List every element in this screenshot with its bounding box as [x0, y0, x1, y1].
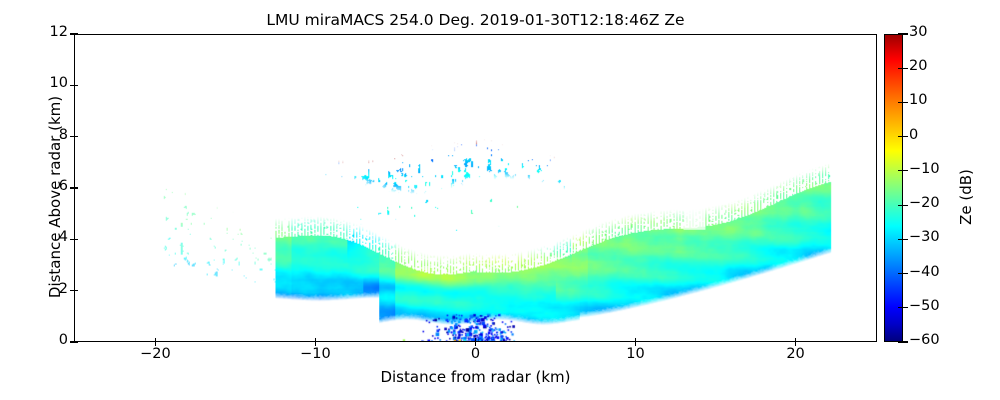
colorbar-tick-mark	[903, 205, 908, 206]
colorbar-tick-label: 10	[909, 92, 927, 108]
colorbar-tick-mark	[903, 239, 908, 240]
x-tick-label: −10	[285, 346, 345, 362]
colorbar-tick-mark	[903, 307, 908, 308]
y-axis-label: Distance Above radar (km)	[46, 47, 64, 347]
colorbar-tick-label: −30	[909, 229, 940, 245]
y-tick-label: 2	[0, 281, 76, 297]
colorbar-tick-mark	[903, 273, 908, 274]
x-tick-mark	[475, 338, 476, 342]
y-tick-label: 4	[0, 229, 76, 245]
colorbar-tick-mark	[903, 33, 908, 34]
x-tick-label: 10	[606, 346, 666, 362]
colorbar-tick-mark	[898, 205, 903, 206]
y-tick-label: 12	[0, 24, 76, 40]
x-tick-mark	[315, 338, 316, 342]
plot-axes	[74, 34, 877, 342]
colorbar-tick-mark	[898, 341, 903, 342]
y-tick-label: 0	[0, 332, 76, 348]
x-tick-label: 20	[766, 346, 826, 362]
colorbar-tick-label: −60	[909, 332, 940, 348]
colorbar-tick-mark	[898, 68, 903, 69]
y-tick-label: 10	[0, 75, 76, 91]
colorbar-label: Ze (dB)	[957, 97, 975, 297]
colorbar-tick-mark	[898, 307, 903, 308]
colorbar-tick-label: −20	[909, 195, 940, 211]
colorbar	[884, 34, 903, 342]
x-tick-mark	[155, 338, 156, 342]
colorbar-tick-mark	[898, 33, 903, 34]
colorbar-tick-mark	[898, 273, 903, 274]
colorbar-tick-label: −50	[909, 298, 940, 314]
page-title: LMU miraMACS 254.0 Deg. 2019-01-30T12:18…	[74, 11, 877, 29]
colorbar-tick-mark	[898, 239, 903, 240]
x-tick-mark	[795, 338, 796, 342]
x-axis-label: Distance from radar (km)	[74, 368, 877, 386]
x-tick-mark	[635, 338, 636, 342]
colorbar-tick-label: −10	[909, 161, 940, 177]
colorbar-tick-label: 30	[909, 24, 927, 40]
x-tick-label: 0	[446, 346, 506, 362]
colorbar-tick-label: 0	[909, 127, 918, 143]
colorbar-tick-label: 20	[909, 58, 927, 74]
y-tick-label: 6	[0, 178, 76, 194]
radar-rhi-heatmap	[75, 35, 876, 341]
colorbar-tick-label: −40	[909, 264, 940, 280]
x-tick-label: −20	[125, 346, 185, 362]
figure-canvas: LMU miraMACS 254.0 Deg. 2019-01-30T12:18…	[0, 0, 1000, 400]
colorbar-tick-mark	[903, 341, 908, 342]
colorbar-tick-mark	[903, 68, 908, 69]
colorbar-tick-mark	[898, 136, 903, 137]
colorbar-tick-mark	[898, 170, 903, 171]
colorbar-tick-mark	[903, 136, 908, 137]
colorbar-tick-mark	[903, 170, 908, 171]
colorbar-tick-mark	[903, 102, 908, 103]
y-tick-label: 8	[0, 127, 76, 143]
colorbar-tick-mark	[898, 102, 903, 103]
